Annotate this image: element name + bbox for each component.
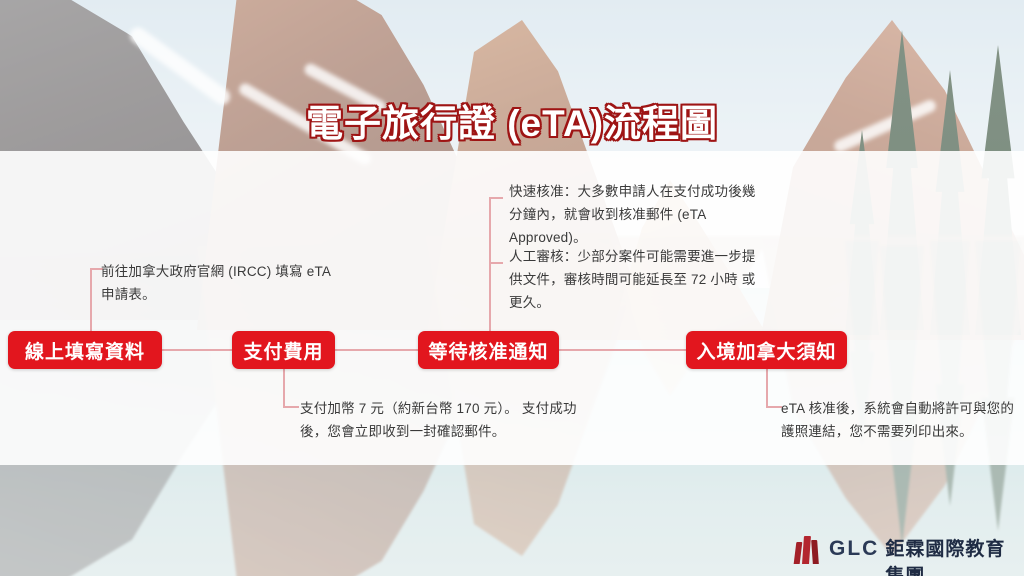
connector-node2-node3 [559, 349, 686, 351]
logo-primary-line: GLC 鉅霖國際教育集團 [829, 534, 1024, 576]
callout-line-approval [489, 197, 491, 331]
logo-text: GLC 鉅霖國際教育集團 International Education Gro… [829, 534, 1024, 576]
callout-line-fast-approval-stub [489, 197, 503, 199]
brand-logo: GLC 鉅霖國際教育集團 International Education Gro… [795, 534, 1024, 576]
note-manual-review: 人工審核：少部分案件可能需要進一步提供文件，審核時間可能延長至 72 小時 或更… [509, 245, 763, 315]
connector-node1-node2 [335, 349, 418, 351]
flow-node-payment[interactable]: 支付費用 [232, 331, 335, 369]
page-title: 電子旅行證 (eTA)流程圖 [0, 93, 1024, 147]
callout-line-apply [90, 268, 92, 331]
glc-book-flame-icon [795, 534, 821, 564]
callout-line-payment [283, 369, 285, 407]
slide-canvas: 電子旅行證 (eTA)流程圖 線上填寫資料 支付費用 等待核准通知 入境加拿大須… [0, 0, 1024, 576]
callout-line-payment-stub [283, 406, 299, 408]
flow-node-await-approval[interactable]: 等待核准通知 [418, 331, 559, 369]
connector-node0-node1 [162, 349, 232, 351]
logo-company-name-cn: 鉅霖國際教育集團 [885, 534, 1024, 576]
flow-node-entry-notes[interactable]: 入境加拿大須知 [686, 331, 847, 369]
callout-line-entry-stub [766, 406, 782, 408]
callout-line-entry [766, 369, 768, 407]
note-apply: 前往加拿大政府官網 (IRCC) 填寫 eTA 申請表。 [101, 260, 337, 306]
flow-node-online-application[interactable]: 線上填寫資料 [8, 331, 162, 369]
logo-brand-initials: GLC [829, 537, 879, 561]
callout-line-manual-review-stub [489, 262, 503, 264]
note-fast-approval: 快速核准：大多數申請人在支付成功後幾分鐘內，就會收到核准郵件 (eTA Appr… [509, 180, 763, 250]
note-entry: eTA 核准後，系統會自動將許可與您的護照連結，您不需要列印出來。 [781, 397, 1019, 443]
note-payment: 支付加幣 7 元（約新台幣 170 元）。 支付成功後，您會立即收到一封確認郵件… [300, 397, 600, 443]
